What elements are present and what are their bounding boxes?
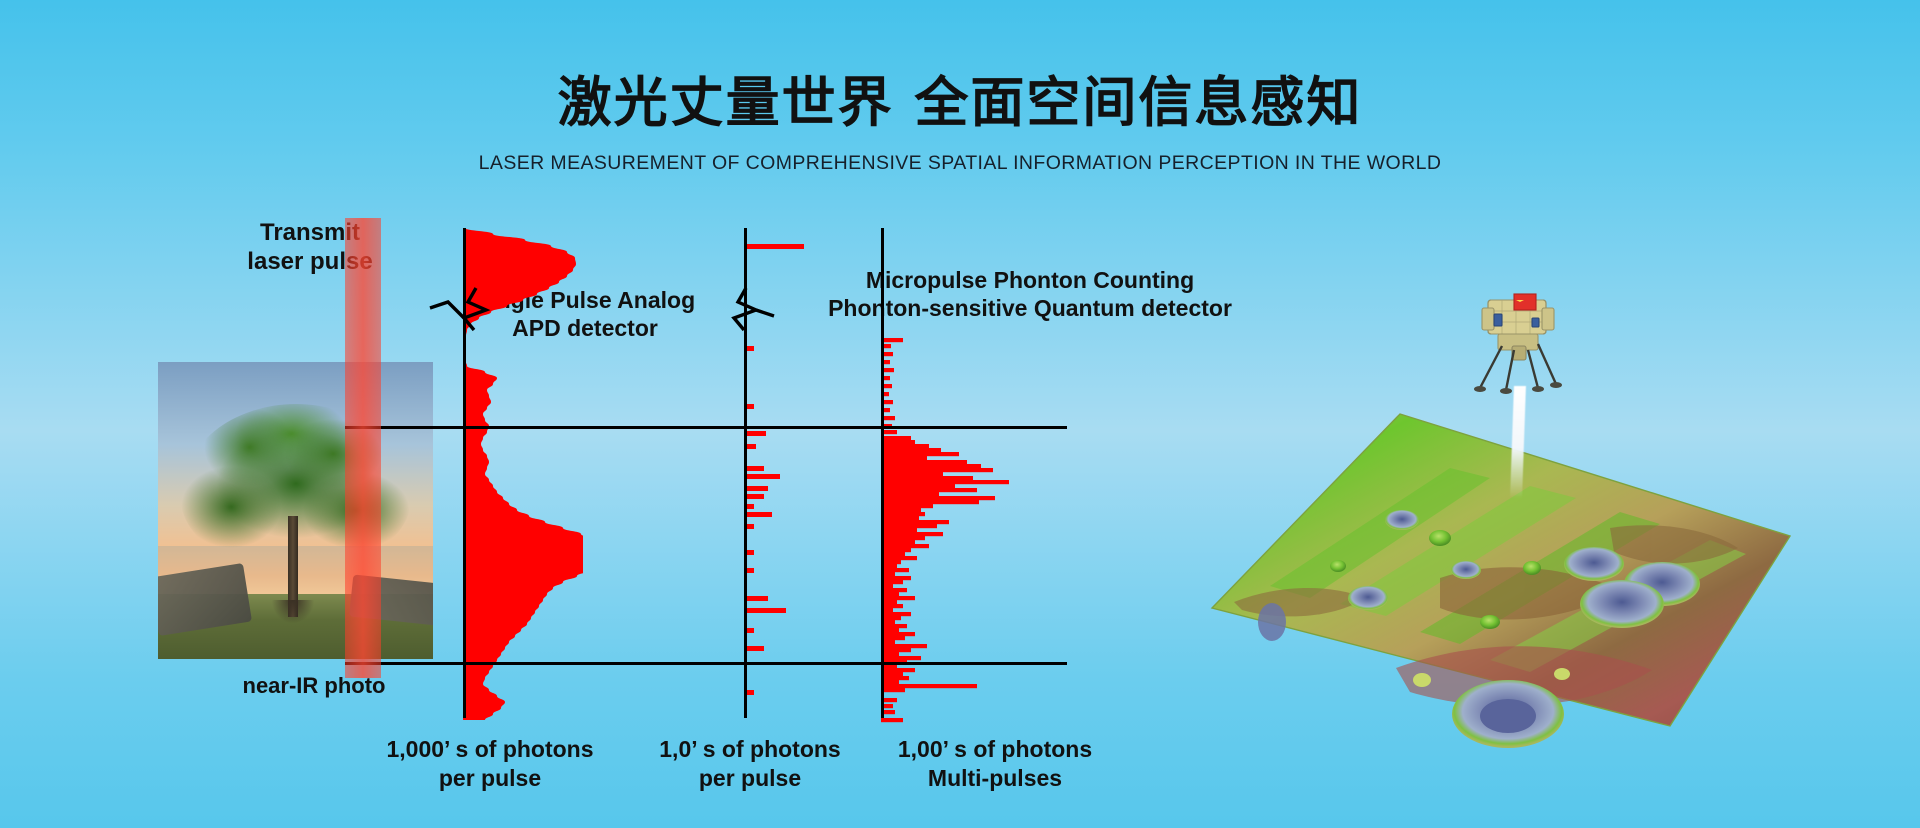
caption-photons-per-pulse-left: 1,000’ s of photons per pulse bbox=[340, 735, 640, 793]
photo-tree-base bbox=[272, 600, 314, 624]
laser-beam-overlay bbox=[345, 218, 381, 678]
poster-stage: 激光丈量世界 全面空间信息感知 LASER MEASUREMENT OF COM… bbox=[0, 0, 1920, 828]
caption-photons-multi-pulses: 1,00’ s of photons Multi-pulses bbox=[850, 735, 1140, 793]
dense-photon-histogram-chart bbox=[881, 228, 1071, 723]
near-ir-tree-photo bbox=[158, 362, 433, 659]
near-ir-photo-label: near-IR photo bbox=[214, 673, 414, 700]
ground-reference-line bbox=[345, 662, 1067, 665]
lunar-terrain-model bbox=[1190, 290, 1850, 750]
caption-photons-per-pulse-middle: 1,0’ s of photons per pulse bbox=[610, 735, 890, 793]
axis-break-mark-2 bbox=[712, 286, 776, 332]
page-title: 激光丈量世界 全面空间信息感知 bbox=[0, 58, 1920, 137]
waveform-axis-3 bbox=[881, 228, 884, 718]
axis-break-mark-1 bbox=[428, 286, 492, 332]
page-subtitle: LASER MEASUREMENT OF COMPREHENSIVE SPATI… bbox=[0, 152, 1920, 175]
canopy-reference-line bbox=[345, 426, 1067, 429]
